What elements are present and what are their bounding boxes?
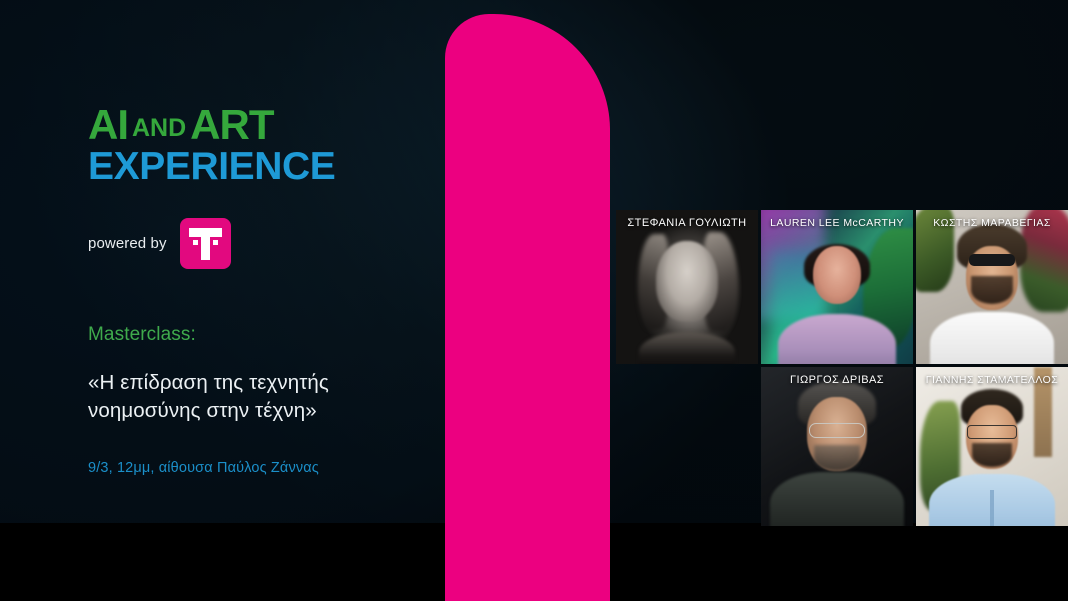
logo-word-art: ART — [190, 101, 273, 148]
magenta-arch-shape — [410, 0, 610, 601]
speaker-name-1: ΣΤΕΦΑΝΙΑ ΓΟΥΛΙΩΤΗ — [616, 217, 758, 229]
speaker-name-3: ΚΩΣΤΗΣ ΜΑΡΑΒΕΓΙΑΣ — [916, 217, 1068, 229]
left-content-column: AIANDART EXPERIENCE powered by Mastercla… — [88, 104, 408, 476]
t-glyph-dot-left — [193, 240, 198, 245]
speaker-name-4: ΓΙΩΡΓΟΣ ΔΡΙΒΑΣ — [761, 374, 913, 386]
speaker-card-3[interactable]: ΚΩΣΤΗΣ ΜΑΡΑΒΕΓΙΑΣ — [916, 210, 1068, 364]
speaker-card-5[interactable]: ΓΙΑΝΝΗΣ ΣΤΑΜΑΤΕΛΛΟΣ — [916, 367, 1068, 526]
logo-word-ai: AI — [88, 101, 128, 148]
speaker-portrait-1 — [616, 210, 758, 364]
logo-word-and: AND — [128, 114, 190, 142]
masterclass-label: Masterclass: — [88, 324, 408, 346]
speaker-card-4[interactable]: ΓΙΩΡΓΟΣ ΔΡΙΒΑΣ — [761, 367, 913, 526]
event-logo: AIANDART EXPERIENCE — [88, 104, 408, 188]
speaker-card-1[interactable]: ΣΤΕΦΑΝΙΑ ΓΟΥΛΙΩΤΗ — [616, 210, 758, 364]
speaker-name-5: ΓΙΑΝΝΗΣ ΣΤΑΜΑΤΕΛΛΟΣ — [916, 374, 1068, 386]
talk-title: «Η επίδραση της τεχνητής νοημοσύνης στην… — [88, 369, 388, 426]
powered-by-row: powered by — [88, 218, 408, 269]
speaker-portrait-5 — [916, 367, 1068, 526]
event-schedule-info: 9/3, 12μμ, αίθουσα Παύλος Ζάννας — [88, 460, 408, 476]
t-mobile-logo-icon — [180, 218, 231, 269]
speaker-portrait-2 — [761, 210, 913, 364]
logo-word-experience: EXPERIENCE — [88, 147, 408, 188]
speaker-portrait-4 — [761, 367, 913, 526]
speaker-portrait-3 — [916, 210, 1068, 364]
grid-empty-cell — [616, 367, 758, 526]
t-glyph-dot-right — [213, 240, 218, 245]
t-glyph-stem — [201, 228, 210, 260]
speaker-photo-grid: ΣΤΕΦΑΝΙΑ ΓΟΥΛΙΩΤΗ LAUREN LEE McCARTHY ΚΩ… — [616, 210, 1068, 523]
speaker-name-2: LAUREN LEE McCARTHY — [761, 217, 913, 229]
powered-by-label: powered by — [88, 235, 167, 252]
logo-line-one: AIANDART — [88, 104, 408, 146]
speaker-card-2[interactable]: LAUREN LEE McCARTHY — [761, 210, 913, 364]
promo-banner: AIANDART EXPERIENCE powered by Mastercla… — [0, 0, 1068, 601]
